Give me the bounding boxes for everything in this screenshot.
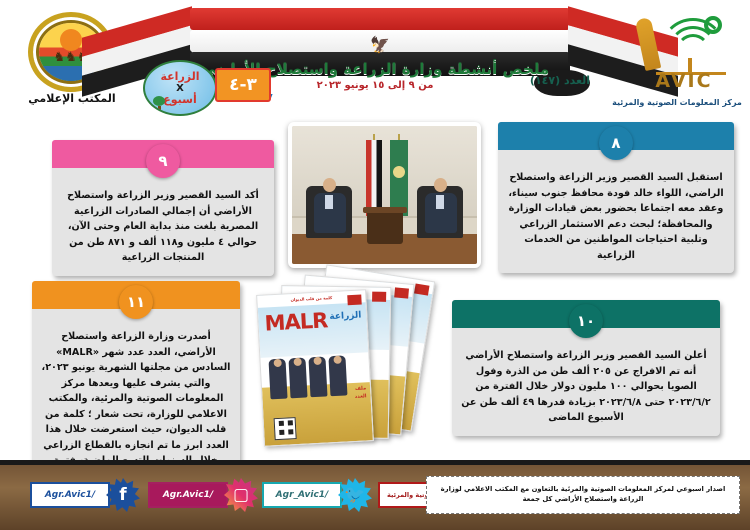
agriculture-week-badge: الزراعة X أسبوع <box>143 60 217 116</box>
badge-line-2: X <box>176 83 184 94</box>
card-number-badge: ٩ <box>146 144 180 178</box>
card-header-bar: ٩ <box>52 140 274 168</box>
week-number-chip: ٣-٤ <box>215 68 273 102</box>
card-header-bar: ١١ <box>32 281 240 309</box>
issue-number: العدد (١٤٧) <box>505 74 615 87</box>
news-card-9: ٩ أكد السيد القصير وزير الزراعة واستصلاح… <box>52 140 274 276</box>
card-text: أعلن السيد القصير وزير الزراعة واستصلاح … <box>452 328 720 436</box>
card-number-badge: ١١ <box>119 285 153 319</box>
emblem-sun <box>60 29 82 51</box>
card-text: أكد السيد القصير وزير الزراعة واستصلاح ا… <box>52 168 274 276</box>
badge-line-3: أسبوع <box>163 94 197 106</box>
magazine-arabic-logo: الزراعة <box>329 311 361 323</box>
card-text: استقبل السيد القصير وزير الزراعة واستصلا… <box>498 150 734 273</box>
official-right <box>423 178 457 234</box>
facebook-handle: /Agr.Avic1 <box>30 482 110 508</box>
badge-line-1: الزراعة <box>160 71 199 83</box>
magazine-side-text: ملفالعدد <box>354 384 367 401</box>
media-office-label: المكتب الإعلامي <box>18 92 126 105</box>
footer-top-stripe <box>0 460 750 465</box>
facebook-link[interactable]: f /Agr.Avic1 <box>30 478 140 512</box>
footer-note: اصدار اسبوعي لمركز المعلومات الصوتية وال… <box>426 476 740 514</box>
broadcast-waves-icon <box>658 16 722 60</box>
twitter-handle: /Agr_Avic1 <box>262 482 342 508</box>
facebook-icon: f <box>106 478 140 512</box>
footer: f /Agr.Avic1 ▢ /Agr.Avic1 🐦 /Agr_Avic1 ►… <box>0 460 750 530</box>
instagram-handle: /Agr.Avic1 <box>148 482 228 508</box>
card-header-bar: ١٠ <box>452 300 720 328</box>
official-left <box>312 178 346 234</box>
magazine-officials <box>268 355 347 399</box>
avic-label: مركز المعلومات الصوتية والمرئية <box>612 98 742 107</box>
magazine-cover-front: كلمة من قلب الديوان MALR الزراعة ملفالعد… <box>256 289 374 447</box>
news-card-8: ٨ استقبل السيد القصير وزير الزراعة واستص… <box>498 122 734 273</box>
magazine-stack: MALR MALR MALR كلمة من قلب الديوان MALR … <box>252 272 437 452</box>
infographic-page: ♞♞♞ المكتب الإعلامي 🦅 <box>0 0 750 530</box>
tree-icon <box>153 96 165 110</box>
week-number: ٣-٤ <box>215 68 271 102</box>
instagram-link[interactable]: ▢ /Agr.Avic1 <box>148 478 258 512</box>
page-title: ملخص أنشطة وزارة الزراعة واستصلاح الأراض… <box>0 60 750 78</box>
eagle-emblem-icon: 🦅 <box>369 35 391 55</box>
card-header-bar: ٨ <box>498 122 734 150</box>
twitter-link[interactable]: 🐦 /Agr_Avic1 <box>262 478 372 512</box>
card-number-badge: ٨ <box>599 126 633 160</box>
page-subtitle: من ٩ إلى ١٥ يونيو ٢٠٢٣ <box>0 80 750 91</box>
twitter-icon: 🐦 <box>338 478 372 512</box>
ribbon-band-red <box>190 8 570 30</box>
news-card-10: ١٠ أعلن السيد القصير وزير الزراعة واستصل… <box>452 300 720 436</box>
instagram-icon: ▢ <box>224 478 258 512</box>
magazine-logo: MALR <box>264 308 328 335</box>
egypt-flag-icon <box>366 140 382 216</box>
qr-code-icon <box>274 417 297 440</box>
meeting-photo <box>288 122 481 268</box>
ministry-flag-icon <box>390 140 408 216</box>
card-number-badge: ١٠ <box>569 304 603 338</box>
header: ♞♞♞ المكتب الإعلامي 🦅 <box>0 0 750 118</box>
